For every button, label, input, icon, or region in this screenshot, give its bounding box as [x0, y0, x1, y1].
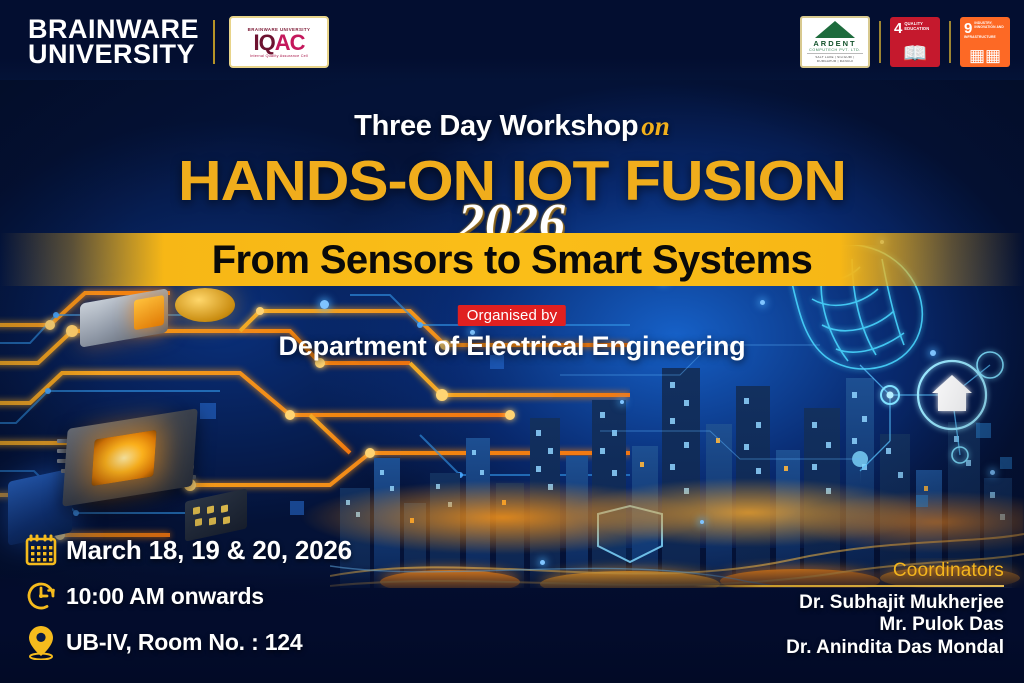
- brainware-university-logo: BRAINWARE UNIVERSITY BRAINWARE UNIVERSIT…: [28, 16, 329, 68]
- open-book-icon: 📖: [890, 44, 940, 64]
- coordinator-name-1: Dr. Subhajit Mukherjee: [664, 592, 1004, 614]
- detail-row-date: March 18, 19 & 20, 2026: [16, 527, 436, 573]
- workshop-eyebrow-on: on: [641, 111, 670, 141]
- ardent-footer: SALT LAKE | SILIGURI | DURGAPUR | RANCHI: [807, 53, 863, 63]
- detail-date-text: March 18, 19 & 20, 2026: [66, 535, 352, 566]
- organised-by-badge: Organised by: [458, 305, 566, 326]
- coordinators-heading: Coordinators: [664, 560, 1004, 582]
- event-details: March 18, 19 & 20, 2026 10:00 AM onwards: [16, 527, 436, 665]
- logo-separator: [879, 21, 881, 63]
- calendar-icon: [16, 533, 66, 567]
- ardent-logo: ARDENT COMPUTECH PVT. LTD. SALT LAKE | S…: [800, 16, 870, 68]
- detail-time-text: 10:00 AM onwards: [66, 583, 264, 610]
- clock-icon: [16, 579, 66, 613]
- workshop-poster: BRAINWARE UNIVERSITY BRAINWARE UNIVERSIT…: [0, 0, 1024, 683]
- ardent-triangle-icon: [815, 21, 855, 38]
- sdg-goal-4-badge: 4 QUALITY EDUCATION 📖: [890, 17, 940, 67]
- sdg-4-number: 4: [894, 21, 902, 36]
- iqac-acronym-part2: AC: [275, 30, 305, 55]
- detail-venue-text: UB-IV, Room No. : 124: [66, 629, 303, 656]
- iqac-bottom-text: Internal Quality Assurance Cell: [250, 54, 308, 58]
- partner-logos: ARDENT COMPUTECH PVT. LTD. SALT LAKE | S…: [800, 16, 1010, 68]
- ardent-subtitle: COMPUTECH PVT. LTD.: [809, 48, 861, 52]
- iqac-acronym-part1: IQ: [253, 30, 274, 55]
- ardent-name: ARDENT: [813, 39, 856, 48]
- university-name: BRAINWARE UNIVERSITY: [28, 17, 199, 67]
- coordinators-block: Coordinators Dr. Subhajit Mukherjee Mr. …: [664, 560, 1004, 659]
- detail-row-time: 10:00 AM onwards: [16, 573, 436, 619]
- logo-divider: [213, 20, 215, 64]
- sdg-goal-9-badge: 9 INDUSTRY, INNOVATION AND INFRASTRUCTUR…: [960, 17, 1010, 67]
- coordinator-name-2: Mr. Pulok Das: [664, 614, 1004, 636]
- workshop-eyebrow: Three Day Workshopon: [0, 110, 1024, 143]
- cubes-icon: ▦▦: [960, 47, 1010, 64]
- sdg-9-number: 9: [964, 21, 972, 36]
- coordinator-name-3: Dr. Anindita Das Mondal: [664, 637, 1004, 659]
- workshop-eyebrow-text: Three Day Workshop: [354, 110, 638, 142]
- logo-separator-2: [949, 21, 951, 63]
- coordinators-rule: [694, 585, 1004, 587]
- iqac-logo: BRAINWARE UNIVERSITY IQAC Internal Quali…: [229, 16, 329, 68]
- university-name-line2: UNIVERSITY: [28, 42, 199, 67]
- detail-row-venue: UB-IV, Room No. : 124: [16, 619, 436, 665]
- workshop-subtitle: From Sensors to Smart Systems: [0, 235, 1024, 285]
- department-name: Department of Electrical Engineering: [0, 331, 1024, 362]
- iqac-acronym: IQAC: [253, 32, 304, 54]
- location-pin-icon: [16, 624, 66, 660]
